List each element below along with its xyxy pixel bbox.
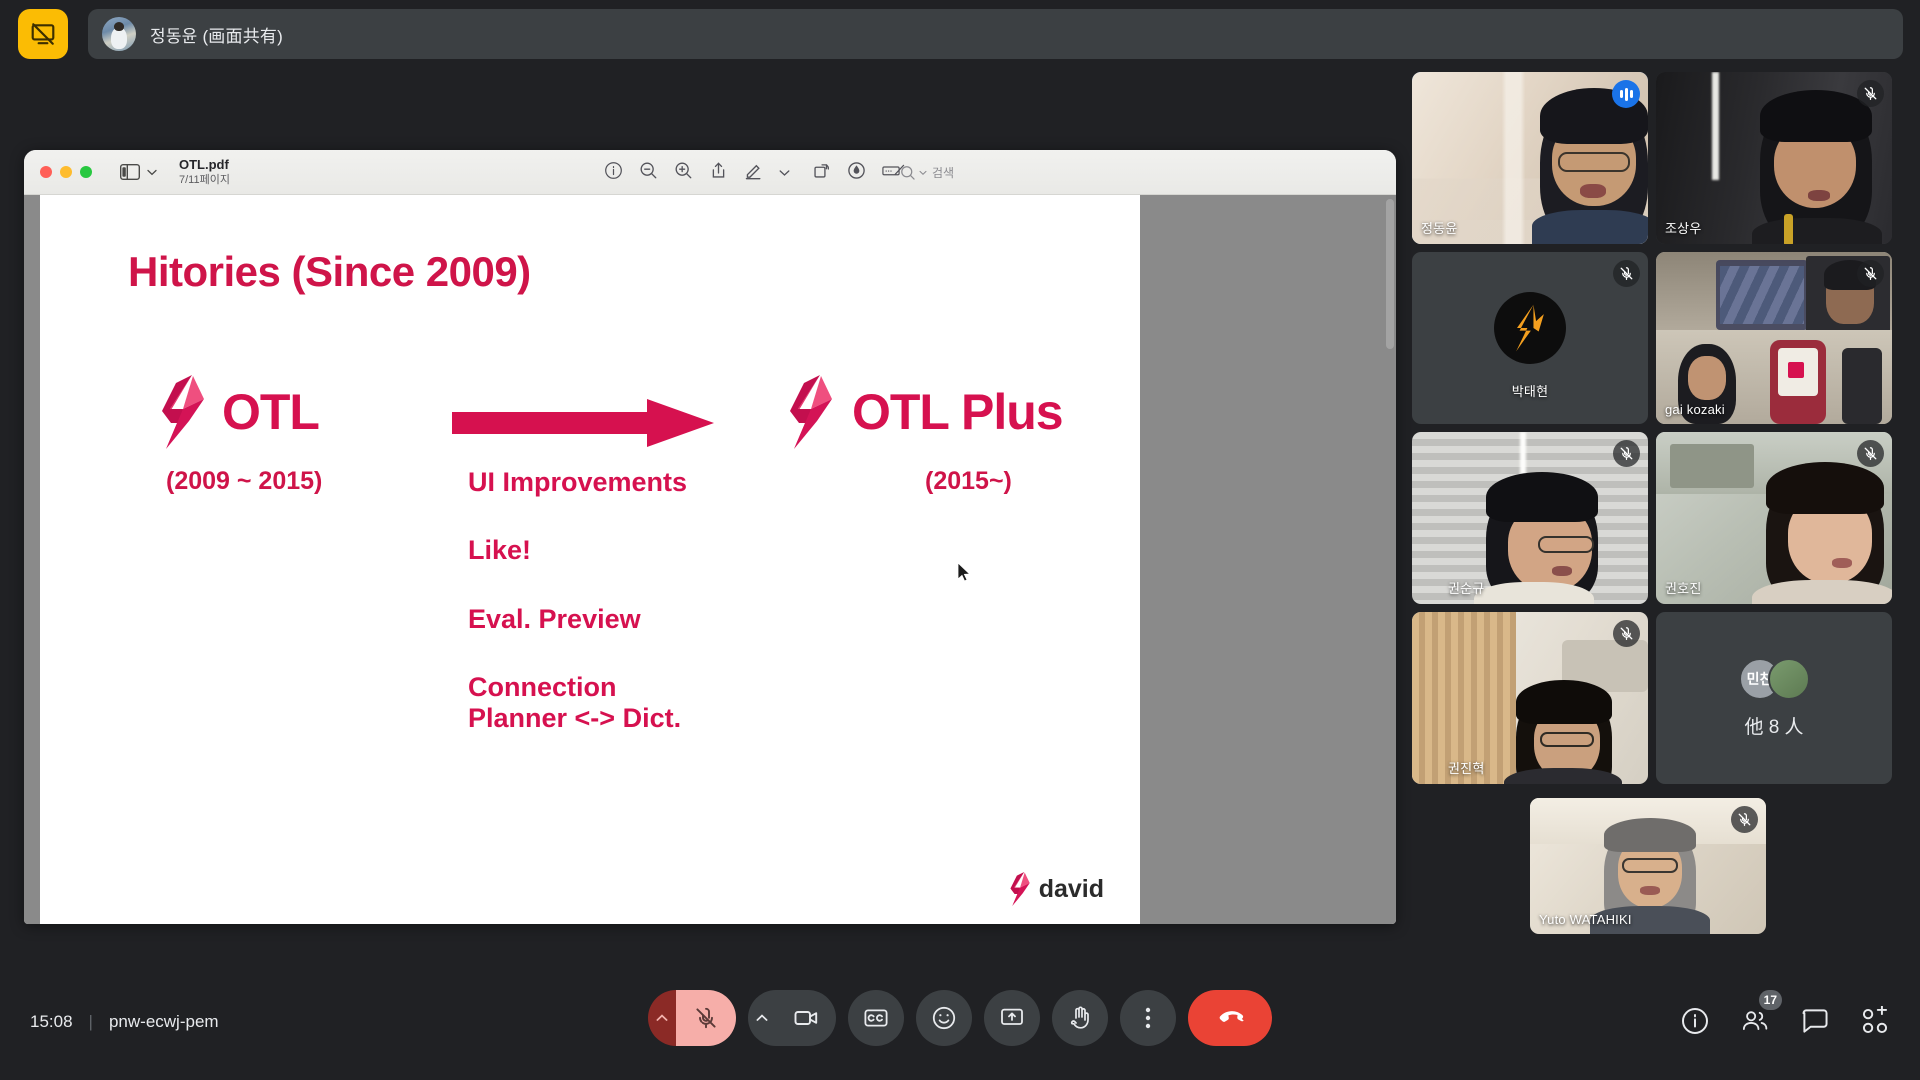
mic-off-icon: [1613, 260, 1640, 287]
maximize-icon[interactable]: [80, 166, 92, 178]
pdf-search-placeholder: 검색: [932, 164, 954, 181]
pdf-toolbar: OTL.pdf 7/11페이지: [24, 150, 1396, 195]
participant-tile[interactable]: 정동윤: [1412, 72, 1648, 244]
otl-bolt-logo: [162, 375, 208, 449]
participant-name: 조상우: [1665, 218, 1701, 237]
slide-right-product-name: OTL Plus: [852, 383, 1063, 441]
call-controls: [648, 990, 1272, 1046]
shared-screen-stage: OTL.pdf 7/11페이지: [0, 68, 1410, 998]
orange-bolt-avatar: [1494, 292, 1566, 364]
zoom-in-icon[interactable]: [674, 161, 693, 185]
pdf-page-indicator: 7/11페이지: [179, 174, 230, 187]
pdf-file-title: OTL.pdf: [179, 158, 230, 173]
more-participants-tile[interactable]: 민친 他 8 人: [1656, 612, 1892, 784]
slide-feature-item: Eval. Preview: [468, 604, 687, 635]
bottom-bar: 15:08 | pnw-ecwj-pem: [0, 972, 1920, 1080]
mic-options-caret[interactable]: [648, 990, 676, 1046]
captions-toggle[interactable]: [848, 990, 904, 1046]
divider: |: [89, 1012, 93, 1032]
meeting-info: 15:08 | pnw-ecwj-pem: [30, 1012, 219, 1032]
camera-options-caret[interactable]: [748, 990, 776, 1046]
zoom-out-icon[interactable]: [639, 161, 658, 185]
slide-feature-item: Connection Planner <-> Dict.: [468, 672, 687, 735]
right-controls: 17: [1678, 1004, 1892, 1038]
slide-left-product-years: (2009 ~ 2015): [166, 467, 322, 496]
slide-left-product: OTL: [162, 375, 319, 449]
rotate-icon[interactable]: [812, 161, 831, 185]
leave-call-button[interactable]: [1188, 990, 1272, 1046]
speaking-indicator-icon: [1612, 80, 1640, 108]
window-traffic-lights[interactable]: [40, 166, 92, 178]
participant-tile[interactable]: gai kozaki: [1656, 252, 1892, 424]
meeting-details-button[interactable]: [1678, 1004, 1712, 1038]
slide-feature-item: UI Improvements: [468, 467, 687, 498]
present-now-button[interactable]: [984, 990, 1040, 1046]
meeting-code-label: pnw-ecwj-pem: [109, 1012, 219, 1032]
participant-tile[interactable]: 권호진: [1656, 432, 1892, 604]
microphone-toggle[interactable]: [676, 990, 736, 1046]
mic-off-icon: [1731, 806, 1758, 833]
mic-off-icon: [1613, 620, 1640, 647]
participant-name: 박태현: [1512, 381, 1548, 400]
screen-share-stop-icon[interactable]: [18, 9, 68, 59]
presenting-banner[interactable]: 정동윤 (画面共有): [88, 9, 1903, 59]
mic-off-icon: [1613, 440, 1640, 467]
otl-bolt-logo: [790, 375, 836, 449]
otl-bolt-logo: [1010, 872, 1032, 906]
clock-label: 15:08: [30, 1012, 73, 1032]
info-icon[interactable]: [604, 161, 623, 185]
participants-button[interactable]: 17: [1738, 1004, 1772, 1038]
more-participants-label: 他 8 人: [1744, 712, 1803, 739]
participant-name: 정동윤: [1421, 218, 1457, 237]
mic-off-icon: [1857, 80, 1884, 107]
microphone-control-group: [648, 990, 736, 1046]
participant-tile[interactable]: 권순규: [1412, 432, 1648, 604]
slide-right-product-years: (2015~): [925, 467, 1012, 496]
pdf-document-info: OTL.pdf 7/11페이지: [179, 158, 230, 187]
participant-tile[interactable]: 조상우: [1656, 72, 1892, 244]
slide-right-product: OTL Plus: [790, 375, 1063, 449]
annotate-icon[interactable]: [847, 161, 866, 185]
transition-arrow-icon: [452, 395, 722, 451]
share-icon[interactable]: [709, 161, 728, 185]
top-bar: 정동윤 (画面共有): [0, 0, 1920, 68]
presenting-banner-label: 정동윤 (画面共有): [150, 22, 283, 47]
mic-off-icon: [1857, 440, 1884, 467]
participant-name: 권순규: [1448, 578, 1484, 597]
slide-signature: david: [1010, 872, 1104, 906]
participant-grid: 정동윤 조상우: [1412, 72, 1900, 972]
meet-window: 정동윤 (画面共有) OTL.pdf: [0, 0, 1920, 1080]
participant-name: 권진혁: [1448, 758, 1484, 777]
avatar: [1768, 658, 1810, 700]
camera-toggle[interactable]: [776, 990, 836, 1046]
participant-name: Yuto WATAHIKI: [1539, 912, 1632, 927]
pdf-page: Hitories (Since 2009) OTL (2009 ~ 2015): [40, 195, 1140, 924]
pdf-toolbar-actions: [604, 150, 906, 195]
pdf-scrollbar[interactable]: [1386, 199, 1394, 349]
participant-tile[interactable]: 권진혁: [1412, 612, 1648, 784]
participant-name: 권호진: [1665, 578, 1701, 597]
chevron-down-icon[interactable]: [779, 164, 790, 182]
pdf-page-area[interactable]: Hitories (Since 2009) OTL (2009 ~ 2015): [24, 195, 1396, 924]
chat-button[interactable]: [1798, 1004, 1832, 1038]
mic-off-icon: [1857, 260, 1884, 287]
minimize-icon[interactable]: [60, 166, 72, 178]
camera-control-group: [748, 990, 836, 1046]
pdf-search-field[interactable]: 검색: [894, 161, 1014, 184]
self-view-tile[interactable]: Yuto WATAHIKI: [1530, 798, 1766, 934]
raise-hand-button[interactable]: [1052, 990, 1108, 1046]
sidebar-toggle-icon[interactable]: [120, 164, 157, 180]
participants-count-badge: 17: [1759, 990, 1782, 1010]
markup-icon[interactable]: [744, 161, 763, 185]
more-participants-avatars: 민친: [1739, 658, 1810, 700]
avatar: [102, 17, 136, 51]
pdf-viewer-window[interactable]: OTL.pdf 7/11페이지: [24, 150, 1396, 924]
activities-button[interactable]: [1858, 1004, 1892, 1038]
slide-feature-item: Like!: [468, 535, 687, 566]
mouse-cursor-icon: [958, 563, 971, 582]
slide-feature-list: UI Improvements Like! Eval. Preview Conn…: [468, 467, 687, 735]
slide-title: Hitories (Since 2009): [128, 248, 531, 296]
more-options-button[interactable]: [1120, 990, 1176, 1046]
close-icon[interactable]: [40, 166, 52, 178]
reactions-button[interactable]: [916, 990, 972, 1046]
slide-signature-name: david: [1039, 875, 1104, 904]
slide-left-product-name: OTL: [222, 383, 319, 441]
participant-name: gai kozaki: [1665, 402, 1725, 417]
participant-tile[interactable]: 박태현: [1412, 252, 1648, 424]
